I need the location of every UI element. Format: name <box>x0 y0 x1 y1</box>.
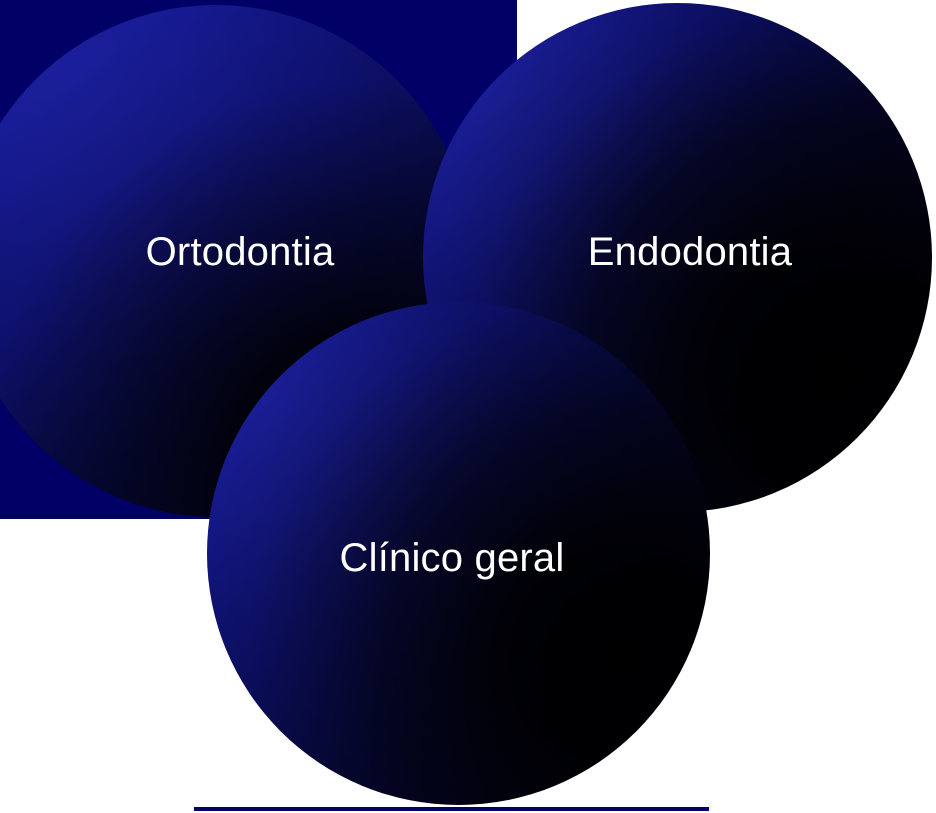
bubble-label-endodontia: Endodontia <box>588 232 792 272</box>
bottom-rule <box>194 807 709 811</box>
bubble-label-clinico: Clínico geral <box>340 538 565 578</box>
bubble-label-ortodontia: Ortodontia <box>146 232 335 272</box>
specialties-graphic: Ortodontia Endodontia Clínico geral <box>0 0 936 813</box>
